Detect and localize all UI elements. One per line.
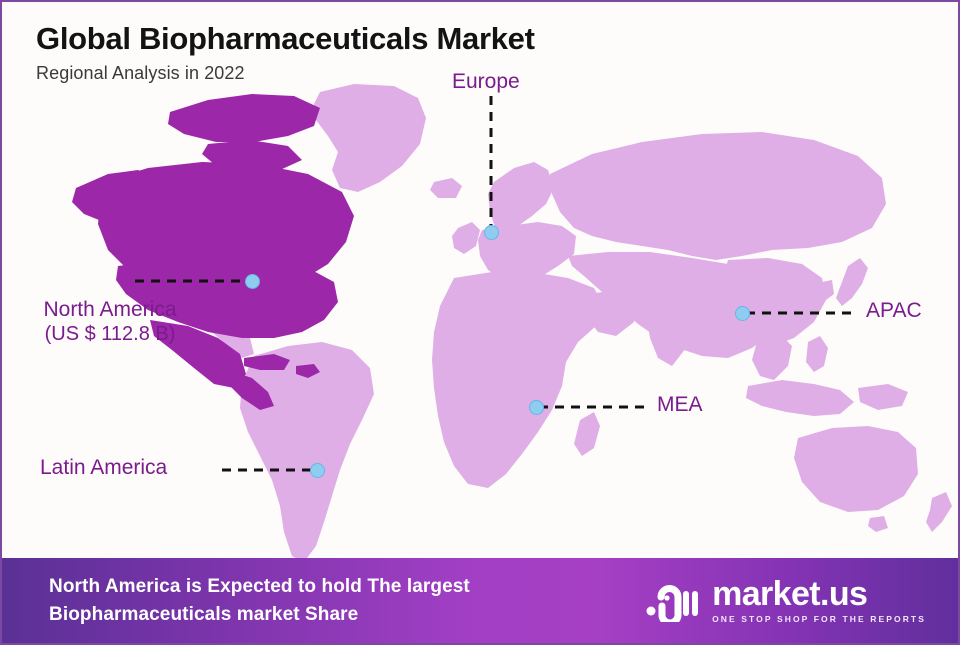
map-shape-philippines [806, 336, 828, 372]
logo-name: market.us [712, 577, 926, 611]
map-shape-indonesia [746, 380, 854, 416]
region-label-mea[interactable]: MEA [657, 393, 703, 418]
map-marker-mea[interactable] [529, 400, 544, 415]
region-value-north-america: (US $ 112.8 B) [20, 323, 200, 347]
map-shape-africa [432, 272, 604, 488]
map-shape-tasmania [868, 516, 888, 532]
logo-tagline: ONE STOP SHOP FOR THE REPORTS [712, 615, 926, 624]
infographic-root: Global Biopharmaceuticals Market Regiona… [0, 0, 960, 645]
page-title: Global Biopharmaceuticals Market [36, 22, 716, 57]
map-shape-australia [794, 426, 918, 512]
map-shape-canada-arctic [168, 94, 320, 142]
map-shape-greenland [314, 84, 426, 192]
region-label-latin-america[interactable]: Latin America [40, 456, 167, 481]
region-name-apac: APAC [866, 299, 922, 322]
map-marker-latin-america[interactable] [310, 463, 325, 478]
brand-logo[interactable]: market.us ONE STOP SHOP FOR THE REPORTS [646, 577, 926, 624]
footer-callout-line2: Biopharmaceuticals market Share [49, 601, 470, 629]
map-shape-japan [836, 258, 868, 306]
map-shape-madagascar [574, 412, 600, 456]
map-shape-iceland [430, 178, 462, 198]
logo-wordmark: market.us ONE STOP SHOP FOR THE REPORTS [712, 577, 926, 624]
page-subtitle: Regional Analysis in 2022 [36, 63, 716, 84]
map-marker-europe[interactable] [484, 225, 499, 240]
region-label-north-america[interactable]: North America (US $ 112.8 B) [20, 298, 200, 346]
map-shape-north-asia [550, 132, 886, 260]
map-marker-apac[interactable] [735, 306, 750, 321]
map-shape-southeast-asia [752, 334, 792, 380]
map-shape-new-zealand [926, 492, 952, 532]
map-shape-india [646, 290, 696, 366]
region-name-north-america: North America [43, 298, 176, 321]
region-name-latin-america: Latin America [40, 456, 167, 479]
header: Global Biopharmaceuticals Market Regiona… [36, 22, 716, 84]
region-label-apac[interactable]: APAC [866, 299, 922, 324]
map-shape-british-isles [452, 222, 480, 254]
footer-banner: North America is Expected to hold The la… [2, 558, 960, 643]
map-shape-new-guinea [858, 384, 908, 410]
footer-callout-line1: North America is Expected to hold The la… [49, 573, 470, 601]
footer-callout: North America is Expected to hold The la… [49, 573, 470, 628]
map-marker-north-america[interactable] [245, 274, 260, 289]
region-name-mea: MEA [657, 393, 703, 416]
market-us-logo-icon [646, 580, 700, 622]
